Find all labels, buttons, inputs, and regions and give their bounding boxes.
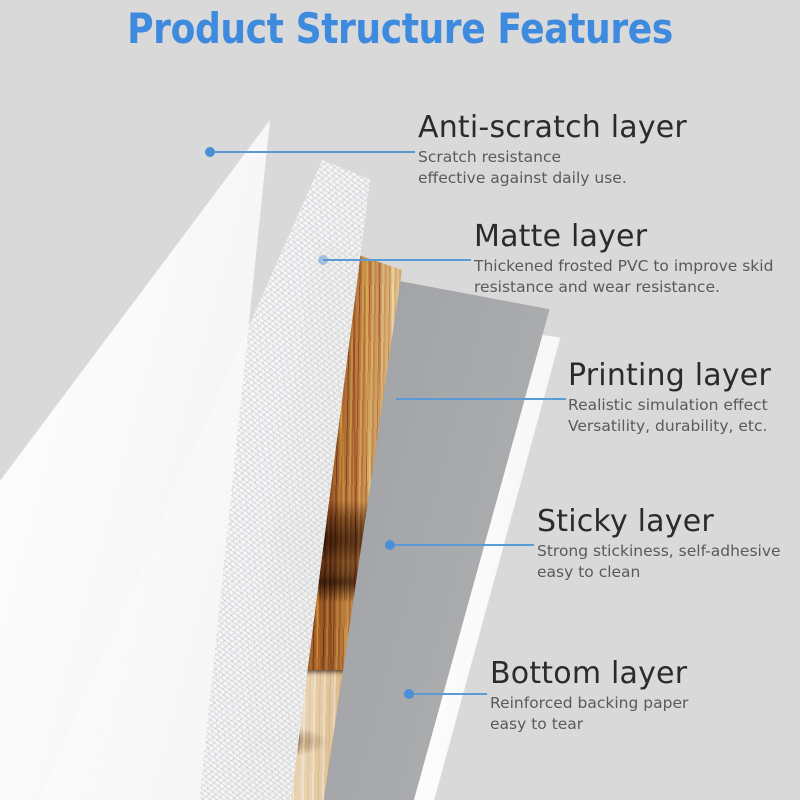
printing-layer-leader-line: [396, 398, 566, 400]
anti-scratch-layer-dot: [205, 147, 215, 157]
callout-description: Strong stickiness, self-adhesive easy to…: [537, 541, 781, 583]
callout-title: Matte layer: [474, 221, 773, 253]
callout-description: Scratch resistance effective against dai…: [418, 147, 687, 189]
callout-title: Bottom layer: [490, 658, 688, 690]
matte-layer-leader-line: [323, 259, 471, 261]
page-title: Product Structure Features: [56, 0, 744, 58]
callout-bottom: Bottom layer Reinforced backing paper ea…: [490, 658, 688, 735]
product-structure-infographic: Product Structure Features Anti-scratch …: [0, 0, 800, 800]
callout-description: Realistic simulation effect Versatility,…: [568, 395, 771, 437]
callout-printing: Printing layer Realistic simulation effe…: [568, 360, 771, 437]
anti-scratch-layer-leader-line: [210, 151, 415, 153]
sticky-layer-dot: [385, 540, 395, 550]
callout-sticky: Sticky layer Strong stickiness, self-adh…: [537, 506, 781, 583]
callout-anti-scratch: Anti-scratch layer Scratch resistance ef…: [418, 112, 687, 189]
sticky-layer-leader-line: [390, 544, 534, 546]
bottom-layer-dot: [404, 689, 414, 699]
bottom-layer-leader-line: [409, 693, 487, 695]
callout-description: Reinforced backing paper easy to tear: [490, 693, 688, 735]
callout-title: Anti-scratch layer: [418, 112, 687, 144]
callout-title: Sticky layer: [537, 506, 781, 538]
matte-layer-dot: [318, 255, 328, 265]
callout-description: Thickened frosted PVC to improve skid re…: [474, 256, 773, 298]
callout-matte: Matte layer Thickened frosted PVC to imp…: [474, 221, 773, 298]
callout-title: Printing layer: [568, 360, 771, 392]
